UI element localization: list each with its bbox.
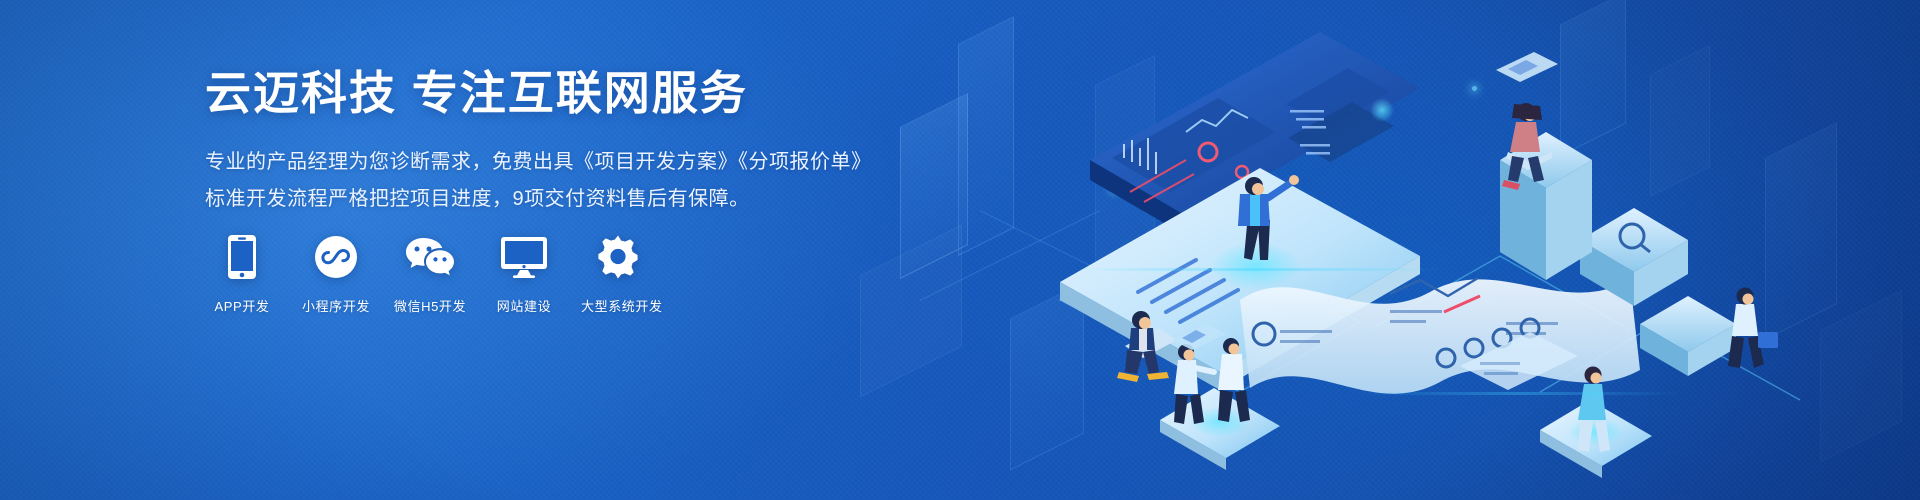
- service-item-large-system[interactable]: 大型系统开发: [581, 232, 655, 315]
- service-item-app[interactable]: APP开发: [205, 232, 279, 315]
- wechat-icon: [393, 232, 467, 282]
- service-item-mini-program[interactable]: 小程序开发: [299, 232, 373, 315]
- banner-headline: 云迈科技 专注互联网服务: [205, 66, 905, 120]
- service-icon-row: APP开发 小程序开发 微信: [205, 232, 675, 315]
- banner-subtitle-line-1: 专业的产品经理为您诊断需求，免费出具《项目开发方案》《分项报价单》: [205, 144, 905, 181]
- service-item-wechat-h5[interactable]: 微信H5开发: [393, 232, 467, 315]
- banner-subtitle: 专业的产品经理为您诊断需求，免费出具《项目开发方案》《分项报价单》 标准开发流程…: [205, 144, 905, 218]
- mobile-phone-icon: [205, 232, 279, 282]
- banner-copy: 云迈科技 专注互联网服务 专业的产品经理为您诊断需求，免费出具《项目开发方案》《…: [205, 66, 905, 218]
- service-label-large-system: 大型系统开发: [581, 296, 655, 315]
- service-label-wechat-h5: 微信H5开发: [393, 296, 467, 315]
- gear-icon: [581, 232, 655, 282]
- mini-program-icon: [299, 232, 373, 282]
- promo-banner: 云迈科技 专注互联网服务 专业的产品经理为您诊断需求，免费出具《项目开发方案》《…: [0, 0, 1920, 500]
- service-label-website: 网站建设: [487, 296, 561, 315]
- hero-illustration: [940, 0, 1920, 500]
- service-label-mini-program: 小程序开发: [299, 296, 373, 315]
- monitor-icon: [487, 232, 561, 282]
- service-item-website[interactable]: 网站建设: [487, 232, 561, 315]
- service-label-app: APP开发: [205, 296, 279, 315]
- banner-subtitle-line-2: 标准开发流程严格把控项目进度，9项交付资料售后有保障。: [205, 181, 905, 218]
